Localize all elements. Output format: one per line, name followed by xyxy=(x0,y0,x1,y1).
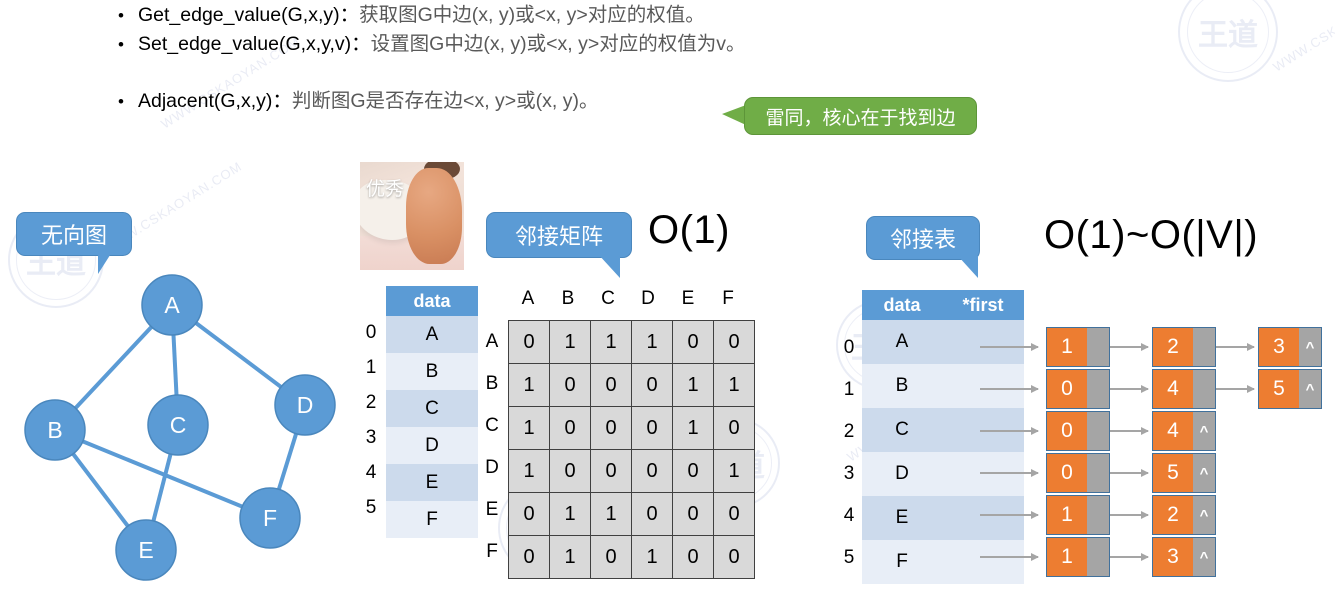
list-data-cell: D xyxy=(862,452,942,496)
list-index-label: 1 xyxy=(838,379,860,401)
linked-list-node-pointer: ^ xyxy=(1193,454,1215,492)
linked-list-node-value: 0 xyxy=(1047,370,1087,408)
linked-list-node-pointer: ^ xyxy=(1299,370,1321,408)
list-index-label: 4 xyxy=(838,505,860,527)
matrix-data-row: B xyxy=(386,353,478,390)
list-first-pointer-cell xyxy=(942,496,1024,540)
api-bullet-list: • Get_edge_value(G,x,y)：获取图G中边(x, y)或<x,… xyxy=(118,2,1168,117)
matrix-cell-BF: 1 xyxy=(714,364,755,407)
linked-list-node[interactable]: 3^ xyxy=(1258,327,1322,367)
linked-list-arrow-icon xyxy=(1110,472,1148,474)
list-data-cell: F xyxy=(862,540,942,584)
matrix-cell-EA: 0 xyxy=(509,493,550,536)
graph-nodes: ABCDEF xyxy=(25,275,335,580)
matrix-index-label: 5 xyxy=(360,497,382,519)
matrix-complexity-label: O(1) xyxy=(648,208,730,253)
adjacency-matrix-grid: 011100100011100010100001011000010100 xyxy=(508,320,755,579)
bullet-row-get-edge-value: • Get_edge_value(G,x,y)：获取图G中边(x, y)或<x,… xyxy=(118,2,1168,29)
bullet-marker-icon: • xyxy=(118,2,138,29)
list-data-cell: E xyxy=(862,496,942,540)
list-index-label: 5 xyxy=(838,547,860,569)
linked-list-node[interactable]: 2 xyxy=(1152,327,1216,367)
callout-undirected-graph: 无向图 xyxy=(16,212,132,256)
linked-list-node[interactable]: 5^ xyxy=(1258,369,1322,409)
linked-list-node-value: 4 xyxy=(1153,370,1193,408)
matrix-col-header-D: D xyxy=(637,288,659,310)
linked-list-node-value: 1 xyxy=(1047,538,1087,576)
matrix-cell-EF: 0 xyxy=(714,493,755,536)
linked-list-node-pointer: ^ xyxy=(1193,496,1215,534)
list-row: D xyxy=(862,452,1024,496)
linked-list-node-value: 5 xyxy=(1153,454,1193,492)
bullet-desc: 获取图G中边(x, y)或<x, y>对应的权值。 xyxy=(359,4,705,26)
callout-adjacency-list-tail-icon xyxy=(950,256,978,278)
matrix-row-header-C: C xyxy=(481,415,503,437)
linked-list-node-value: 4 xyxy=(1153,412,1193,450)
photo-thumb xyxy=(406,168,462,264)
linked-list-node-value: 0 xyxy=(1047,412,1087,450)
bullet-row-set-edge-value: • Set_edge_value(G,x,y,v)：设置图G中边(x, y)或<… xyxy=(118,31,1168,58)
linked-list-node-value: 3 xyxy=(1153,538,1193,576)
matrix-cell-CD: 0 xyxy=(632,407,673,450)
matrix-data-row: E xyxy=(386,464,478,501)
linked-list-node-pointer: ^ xyxy=(1193,538,1215,576)
linked-list-node[interactable]: 4 xyxy=(1152,369,1216,409)
matrix-row-header-F: F xyxy=(481,541,503,563)
matrix-cell-DE: 0 xyxy=(673,450,714,493)
matrix-col-header-B: B xyxy=(557,288,579,310)
matrix-cell-AA: 0 xyxy=(509,321,550,364)
linked-list-arrow-icon xyxy=(1216,388,1254,390)
linked-list-arrow-icon xyxy=(1110,514,1148,516)
first-pointer-arrow-icon xyxy=(980,346,1038,348)
linked-list-arrow-icon xyxy=(1110,430,1148,432)
matrix-row: 011100 xyxy=(509,321,755,364)
linked-list-node[interactable]: 1 xyxy=(1046,495,1110,535)
graph-node-label-F: F xyxy=(263,505,277,531)
list-header-first: *first xyxy=(942,290,1024,320)
matrix-index-label: 2 xyxy=(360,392,382,414)
matrix-row: 010100 xyxy=(509,536,755,579)
matrix-cell-DC: 0 xyxy=(591,450,632,493)
matrix-row-header-D: D xyxy=(481,457,503,479)
linked-list-node-value: 1 xyxy=(1047,328,1087,366)
matrix-data-header: data xyxy=(386,286,478,316)
callout-adjacency-list: 邻接表 xyxy=(866,216,980,260)
graph-node-label-D: D xyxy=(297,392,314,418)
matrix-cell-FE: 0 xyxy=(673,536,714,579)
matrix-cell-BD: 0 xyxy=(632,364,673,407)
list-complexity-label: O(1)~O(|V|) xyxy=(1044,213,1258,258)
first-pointer-arrow-icon xyxy=(980,388,1038,390)
matrix-cell-EE: 0 xyxy=(673,493,714,536)
watermark-site-top-right: WWW.CSKAOYAN.COM xyxy=(1270,0,1335,75)
matrix-cell-DB: 0 xyxy=(550,450,591,493)
graph-node-label-B: B xyxy=(47,417,62,443)
first-pointer-arrow-icon xyxy=(980,430,1038,432)
list-data-cell: A xyxy=(862,320,942,364)
matrix-data-cell: B xyxy=(386,353,478,390)
linked-list-node-pointer xyxy=(1193,328,1215,366)
watermark-seal-inner: 王道 xyxy=(1187,0,1270,73)
linked-list-node-value: 3 xyxy=(1259,328,1299,366)
matrix-cell-FD: 1 xyxy=(632,536,673,579)
matrix-index-label: 1 xyxy=(360,357,382,379)
list-data-cell: C xyxy=(862,408,942,452)
bullet-code: Adjacent(G,x,y)： xyxy=(138,90,292,112)
linked-list-node[interactable]: 0 xyxy=(1046,411,1110,451)
matrix-row-header-A: A xyxy=(481,331,503,353)
matrix-cell-CC: 0 xyxy=(591,407,632,450)
matrix-data-table: data ABCDEF xyxy=(386,286,478,538)
linked-list-node-pointer xyxy=(1193,370,1215,408)
matrix-cell-DF: 1 xyxy=(714,450,755,493)
matrix-data-cell: D xyxy=(386,427,478,464)
linked-list-node-pointer: ^ xyxy=(1193,412,1215,450)
matrix-row: 100011 xyxy=(509,364,755,407)
linked-list-node-value: 5 xyxy=(1259,370,1299,408)
green-callout-note: 雷同，核心在于找到边 xyxy=(744,97,977,135)
matrix-cell-AE: 0 xyxy=(673,321,714,364)
adjacency-list-body: ABCDEF xyxy=(862,320,1024,584)
list-first-pointer-cell xyxy=(942,452,1024,496)
linked-list-node-pointer xyxy=(1087,538,1109,576)
bullet-row-adjacent: • Adjacent(G,x,y)：判断图G是否存在边<x, y>或(x, y)… xyxy=(118,88,1168,115)
matrix-cell-AD: 1 xyxy=(632,321,673,364)
matrix-cell-EB: 1 xyxy=(550,493,591,536)
green-callout-tail-icon xyxy=(722,105,746,125)
bullet-code: Set_edge_value(G,x,y,v)： xyxy=(138,33,371,55)
linked-list-node-pointer xyxy=(1087,496,1109,534)
matrix-row-header-B: B xyxy=(481,373,503,395)
matrix-cell-EC: 1 xyxy=(591,493,632,536)
bullet-code: Get_edge_value(G,x,y)： xyxy=(138,4,359,26)
matrix-cell-ED: 0 xyxy=(632,493,673,536)
matrix-cell-FF: 0 xyxy=(714,536,755,579)
linked-list-node-value: 1 xyxy=(1047,496,1087,534)
list-first-pointer-cell xyxy=(942,540,1024,584)
matrix-cell-CF: 0 xyxy=(714,407,755,450)
bullet-marker-icon: • xyxy=(118,31,138,58)
watermark-seal-top-right: 王道 xyxy=(1178,0,1278,82)
matrix-cell-AB: 1 xyxy=(550,321,591,364)
linked-list-node-value: 2 xyxy=(1153,496,1193,534)
list-data-cell: B xyxy=(862,364,942,408)
matrix-data-cell: E xyxy=(386,464,478,501)
photo-caption: 优秀 xyxy=(366,174,404,201)
linked-list-node[interactable]: 3^ xyxy=(1152,537,1216,577)
matrix-cell-AC: 1 xyxy=(591,321,632,364)
matrix-cell-BB: 0 xyxy=(550,364,591,407)
list-first-pointer-cell xyxy=(942,320,1024,364)
matrix-cell-CA: 1 xyxy=(509,407,550,450)
list-index-label: 0 xyxy=(838,337,860,359)
linked-list-arrow-icon xyxy=(1110,556,1148,558)
thumbs-up-photo: 优秀 xyxy=(360,162,464,270)
linked-list-node[interactable]: 0 xyxy=(1046,369,1110,409)
matrix-data-row: A xyxy=(386,316,478,353)
matrix-row: 100001 xyxy=(509,450,755,493)
matrix-row: 100010 xyxy=(509,407,755,450)
matrix-row-header-E: E xyxy=(481,499,503,521)
matrix-cell-FC: 0 xyxy=(591,536,632,579)
matrix-col-header-F: F xyxy=(717,288,739,310)
list-row: F xyxy=(862,540,1024,584)
linked-list-node[interactable]: 4^ xyxy=(1152,411,1216,451)
undirected-graph-diagram: ABCDEF xyxy=(0,255,360,600)
list-first-pointer-cell xyxy=(942,364,1024,408)
matrix-data-cell: A xyxy=(386,316,478,353)
list-row: A xyxy=(862,320,1024,364)
list-header-data: data xyxy=(862,290,942,320)
matrix-cell-BA: 1 xyxy=(509,364,550,407)
linked-list-node-pointer xyxy=(1087,328,1109,366)
linked-list-node-pointer: ^ xyxy=(1299,328,1321,366)
linked-list-node-pointer xyxy=(1087,412,1109,450)
linked-list-node[interactable]: 0 xyxy=(1046,453,1110,493)
first-pointer-arrow-icon xyxy=(980,514,1038,516)
matrix-row: 011000 xyxy=(509,493,755,536)
list-index-label: 3 xyxy=(838,463,860,485)
matrix-cell-DA: 1 xyxy=(509,450,550,493)
linked-list-node-value: 0 xyxy=(1047,454,1087,492)
matrix-cell-FA: 0 xyxy=(509,536,550,579)
matrix-cell-CE: 1 xyxy=(673,407,714,450)
bullet-marker-icon: • xyxy=(118,88,138,115)
linked-list-node-value: 2 xyxy=(1153,328,1193,366)
bullet-desc: 设置图G中边(x, y)或<x, y>对应的权值为v。 xyxy=(371,33,746,55)
matrix-cell-DD: 0 xyxy=(632,450,673,493)
matrix-cell-AF: 0 xyxy=(714,321,755,364)
matrix-data-cell: F xyxy=(386,501,478,538)
adjacency-list-table: data *first ABCDEF xyxy=(862,290,1024,584)
bullet-text: Adjacent(G,x,y)：判断图G是否存在边<x, y>或(x, y)。 xyxy=(138,88,599,115)
graph-node-label-C: C xyxy=(170,412,187,438)
first-pointer-arrow-icon xyxy=(980,472,1038,474)
linked-list-node[interactable]: 1 xyxy=(1046,327,1110,367)
list-row: B xyxy=(862,364,1024,408)
bullet-text: Set_edge_value(G,x,y,v)：设置图G中边(x, y)或<x,… xyxy=(138,31,746,58)
matrix-cell-FB: 1 xyxy=(550,536,591,579)
linked-list-arrow-icon xyxy=(1110,388,1148,390)
list-row: E xyxy=(862,496,1024,540)
matrix-data-body: ABCDEF xyxy=(386,316,478,538)
list-index-label: 2 xyxy=(838,421,860,443)
bullet-desc: 判断图G是否存在边<x, y>或(x, y)。 xyxy=(292,90,599,112)
matrix-index-label: 0 xyxy=(360,322,382,344)
linked-list-arrow-icon xyxy=(1216,346,1254,348)
matrix-data-row: D xyxy=(386,427,478,464)
matrix-data-cell: C xyxy=(386,390,478,427)
matrix-index-label: 4 xyxy=(360,462,382,484)
matrix-cell-BC: 0 xyxy=(591,364,632,407)
matrix-cell-BE: 1 xyxy=(673,364,714,407)
linked-list-node[interactable]: 1 xyxy=(1046,537,1110,577)
matrix-cell-CB: 0 xyxy=(550,407,591,450)
graph-node-label-E: E xyxy=(138,537,153,563)
matrix-data-row: C xyxy=(386,390,478,427)
graph-node-label-A: A xyxy=(164,292,180,318)
linked-list-node[interactable]: 5^ xyxy=(1152,453,1216,493)
matrix-col-header-C: C xyxy=(597,288,619,310)
linked-list-node-pointer xyxy=(1087,454,1109,492)
linked-list-node-pointer xyxy=(1087,370,1109,408)
matrix-col-header-A: A xyxy=(517,288,539,310)
adjacency-matrix-body: 011100100011100010100001011000010100 xyxy=(509,321,755,579)
linked-list-arrow-icon xyxy=(1110,346,1148,348)
callout-adjacency-matrix-tail-icon xyxy=(590,254,620,278)
matrix-data-row: F xyxy=(386,501,478,538)
matrix-col-header-E: E xyxy=(677,288,699,310)
matrix-index-label: 3 xyxy=(360,427,382,449)
callout-adjacency-matrix: 邻接矩阵 xyxy=(486,212,632,258)
first-pointer-arrow-icon xyxy=(980,556,1038,558)
linked-list-node[interactable]: 2^ xyxy=(1152,495,1216,535)
bullet-text: Get_edge_value(G,x,y)：获取图G中边(x, y)或<x, y… xyxy=(138,2,705,29)
